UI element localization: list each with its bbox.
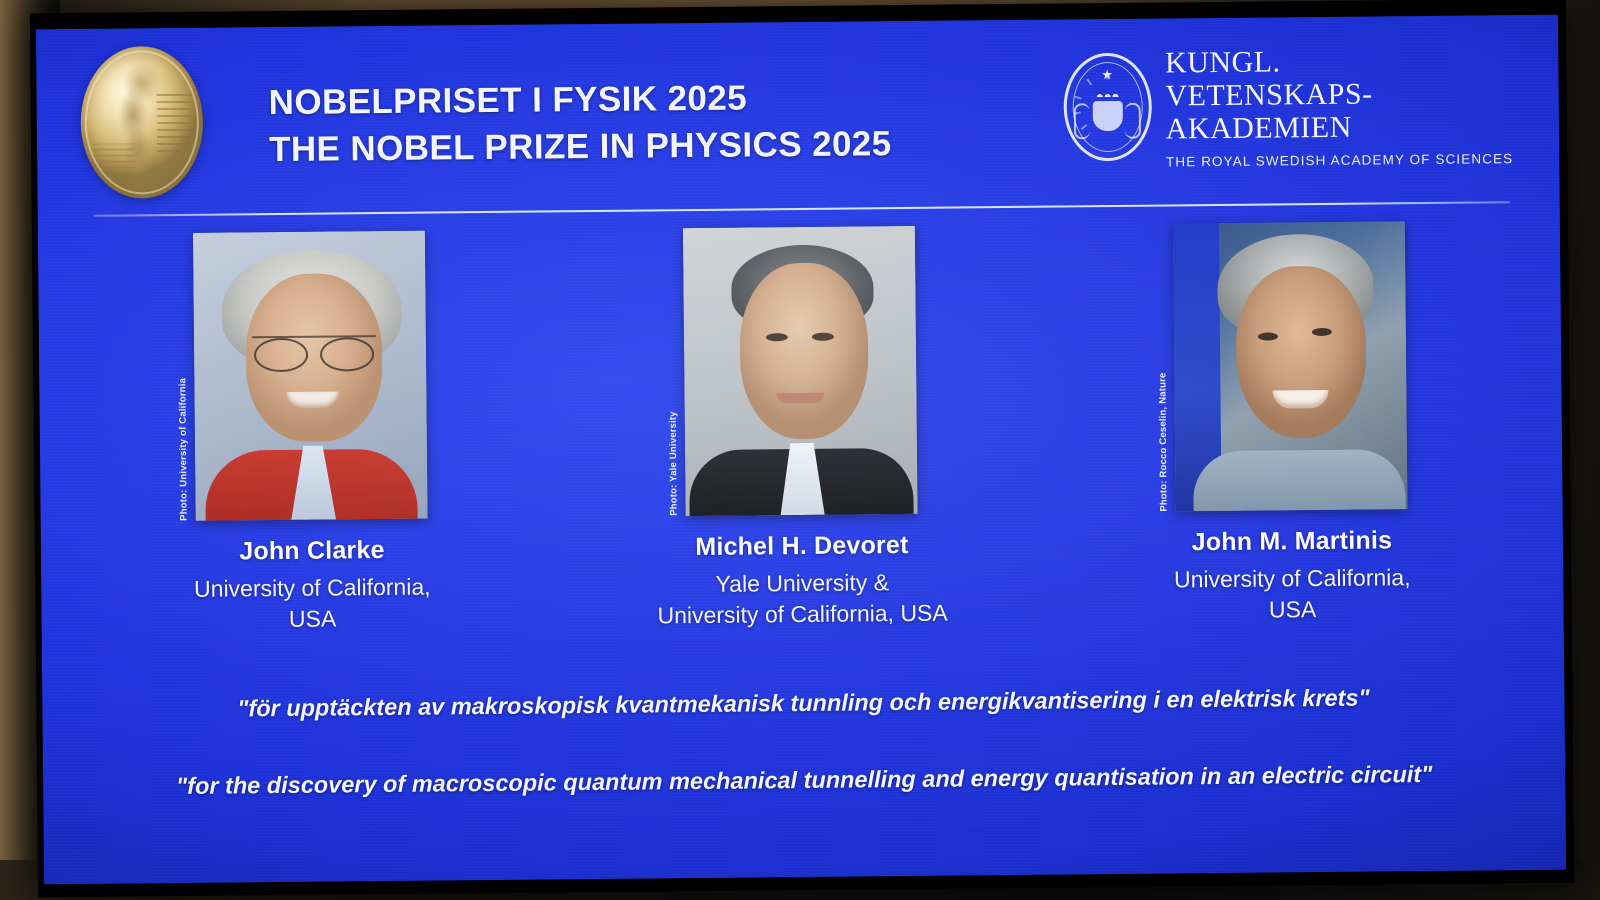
citation-english: "for the discovery of macroscopic quantu… (43, 760, 1565, 802)
photo-credit: Photo: Yale University (668, 412, 680, 517)
slide-titles: NOBELPRISET I FYSIK 2025 THE NOBEL PRIZE… (268, 73, 891, 173)
photo-credit: Photo: Rocco Ceselin, Nature (1157, 372, 1169, 511)
laureate-list: Photo: University of California John Cla… (38, 220, 1564, 638)
academy-line-3: AKADEMIEN (1166, 109, 1514, 145)
laureate-affiliation-line1: University of California, (194, 572, 431, 605)
laureate-affiliation-line2: University of California, USA (657, 598, 947, 632)
nobel-medal-icon (80, 46, 203, 199)
nobel-announcement-slide: NOBELPRISET I FYSIK 2025 THE NOBEL PRIZE… (36, 15, 1566, 885)
slide-header: NOBELPRISET I FYSIK 2025 THE NOBEL PRIZE… (36, 15, 1560, 220)
academy-branding: ★ KUNGL. VETENSKAPS- AKADEMIEN THE ROYAL… (1063, 43, 1513, 170)
royal-swedish-academy-seal-icon: ★ (1063, 53, 1152, 162)
portrait-wrapper: Photo: Yale University (683, 226, 918, 516)
laureate-name: Michel H. Devoret (695, 531, 908, 562)
laureate-affiliation-line1: Yale University & (715, 567, 889, 600)
portrait-photo-john-martinis (1173, 221, 1408, 511)
laureate-card: Photo: Rocco Ceselin, Nature John M. Mar… (1121, 221, 1461, 627)
laureate-affiliation-line1: University of California, (1174, 562, 1411, 595)
portrait-photo-michel-devoret (683, 226, 918, 516)
laureate-card: Photo: University of California John Cla… (141, 230, 481, 636)
laureate-affiliation-line2: USA (289, 603, 337, 634)
portrait-wrapper: Photo: University of California (193, 231, 428, 521)
title-english: THE NOBEL PRIZE IN PHYSICS 2025 (269, 120, 892, 173)
laureate-card: Photo: Yale University Michel H. Devoret… (631, 225, 971, 631)
prize-citations: "för upptäckten av makroskopisk kvantmek… (42, 683, 1565, 802)
title-swedish: NOBELPRISET I FYSIK 2025 (268, 73, 891, 126)
academy-line-1: KUNGL. (1165, 43, 1513, 79)
laureate-name: John M. Martinis (1192, 526, 1393, 557)
citation-swedish: "för upptäckten av makroskopisk kvantmek… (42, 683, 1564, 725)
photo-credit: Photo: University of California (177, 378, 189, 521)
photo-of-projected-slide: NOBELPRISET I FYSIK 2025 THE NOBEL PRIZE… (0, 0, 1600, 900)
laureate-affiliation-line2: USA (1269, 594, 1317, 625)
portrait-wrapper: Photo: Rocco Ceselin, Nature (1173, 221, 1408, 511)
laureate-name: John Clarke (239, 536, 385, 566)
academy-line-2: VETENSKAPS- (1165, 76, 1513, 112)
portrait-photo-john-clarke (193, 231, 428, 521)
academy-subtitle: THE ROYAL SWEDISH ACADEMY OF SCIENCES (1166, 151, 1513, 169)
display-bezel: NOBELPRISET I FYSIK 2025 THE NOBEL PRIZE… (30, 0, 1574, 897)
